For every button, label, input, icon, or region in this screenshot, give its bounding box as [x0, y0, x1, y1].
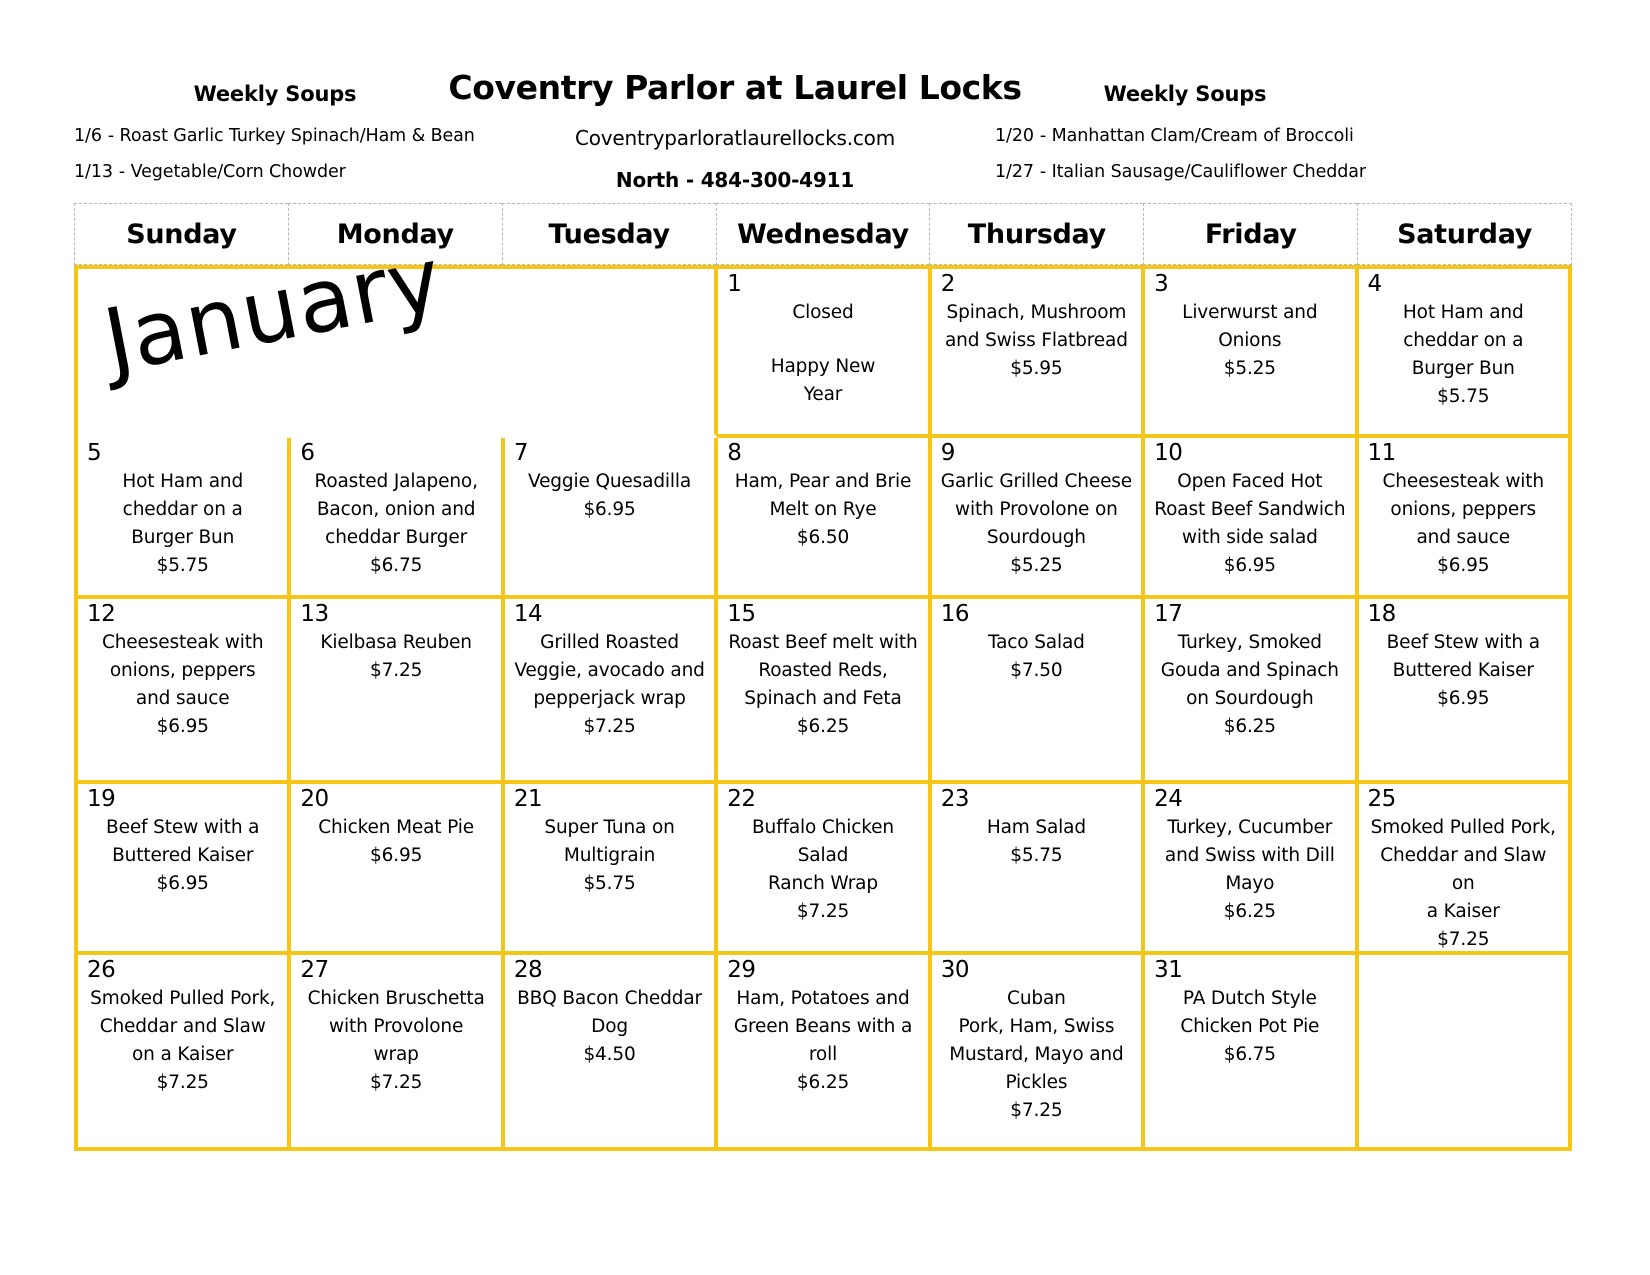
calendar-cell-day-30[interactable]: 30CubanPork, Ham, SwissMustard, Mayo and…	[932, 955, 1145, 1151]
menu-line: onions, peppers	[86, 657, 279, 685]
day-number: 21	[514, 788, 542, 811]
weekly-soups-right: Weekly Soups 1/20- Manhattan Clam/Cream …	[985, 82, 1385, 198]
day-header-friday: Friday	[1143, 203, 1357, 265]
calendar-cell-day-1[interactable]: 1ClosedHappy NewYear	[718, 269, 931, 438]
menu-line: Taco Salad	[940, 629, 1133, 657]
day-number: 13	[300, 603, 328, 626]
soup-text: - Vegetable/Corn Chowder	[119, 162, 346, 182]
calendar-grid: 1ClosedHappy NewYear2Spinach, Mushrooman…	[74, 265, 1572, 1151]
menu-line: Chicken Pot Pie	[1153, 1013, 1346, 1041]
day-header-label: Saturday	[1397, 219, 1532, 250]
menu-line: and sauce	[1367, 524, 1560, 552]
day-header-label: Wednesday	[737, 219, 909, 250]
menu-line: Buffalo Chicken Salad	[726, 814, 919, 870]
menu-item-text: Roasted Jalapeno,Bacon, onion andcheddar…	[295, 468, 496, 580]
calendar-cell-empty	[78, 269, 291, 438]
soup-text: - Italian Sausage/Cauliflower Cheddar	[1040, 162, 1366, 182]
calendar-cell-day-31[interactable]: 31PA Dutch StyleChicken Pot Pie$6.75	[1145, 955, 1358, 1151]
menu-item-text: Smoked Pulled Pork,Cheddar and Slaw ona …	[1363, 814, 1564, 955]
menu-line: Grilled Roasted	[513, 629, 706, 657]
menu-item-text: ClosedHappy NewYear	[722, 299, 923, 409]
day-number: 20	[300, 788, 328, 811]
menu-item-text: Ham, Pear and BrieMelt on Rye$6.50	[722, 468, 923, 552]
menu-line: $6.25	[726, 1069, 919, 1097]
menu-line: onions, peppers	[1367, 496, 1560, 524]
menu-line: Hot Ham and	[1367, 299, 1560, 327]
menu-line: $4.50	[513, 1041, 706, 1069]
menu-item-text: Ham, Potatoes andGreen Beans with aroll$…	[722, 985, 923, 1097]
menu-line: $6.95	[299, 842, 492, 870]
menu-line: Buttered Kaiser	[86, 842, 279, 870]
calendar-cell-day-19[interactable]: 19Beef Stew with aButtered Kaiser$6.95	[78, 784, 291, 955]
menu-line: PA Dutch Style	[1153, 985, 1346, 1013]
menu-line: Closed	[726, 299, 919, 327]
calendar-cell-day-18[interactable]: 18Beef Stew with aButtered Kaiser$6.95	[1359, 599, 1572, 784]
menu-line: Dog	[513, 1013, 706, 1041]
day-number: 15	[727, 603, 755, 626]
calendar-cell-day-27[interactable]: 27Chicken Bruschettawith Provolonewrap$7…	[291, 955, 504, 1151]
day-number: 11	[1368, 442, 1396, 465]
day-number: 19	[87, 788, 115, 811]
day-number: 4	[1368, 273, 1382, 296]
soup-text: - Manhattan Clam/Cream of Broccoli	[1040, 126, 1354, 146]
calendar-cell-day-13[interactable]: 13Kielbasa Reuben$7.25	[291, 599, 504, 784]
menu-line: Burger Bun	[86, 524, 279, 552]
menu-line: $5.75	[513, 870, 706, 898]
calendar-cell-day-20[interactable]: 20Chicken Meat Pie$6.95	[291, 784, 504, 955]
menu-item-text: Beef Stew with aButtered Kaiser$6.95	[82, 814, 283, 898]
menu-item-text: CubanPork, Ham, SwissMustard, Mayo andPi…	[936, 985, 1137, 1126]
calendar-cell-day-15[interactable]: 15Roast Beef melt withRoasted Reds,Spina…	[718, 599, 931, 784]
soup-text: - Roast Garlic Turkey Spinach/Ham & Bean	[108, 126, 475, 146]
menu-line: and sauce	[86, 685, 279, 713]
day-number: 7	[514, 442, 528, 465]
day-number: 9	[941, 442, 955, 465]
menu-line: Buttered Kaiser	[1367, 657, 1560, 685]
calendar-page: Weekly Soups 1/6- Roast Garlic Turkey Sp…	[0, 0, 1650, 1275]
title-block: Coventry Parlor at Laurel Locks Coventry…	[425, 70, 1045, 192]
menu-item-text: Kielbasa Reuben$7.25	[295, 629, 496, 685]
calendar-cell-day-4[interactable]: 4Hot Ham andcheddar on aBurger Bun$5.75	[1359, 269, 1572, 438]
day-number: 1	[727, 273, 741, 296]
day-number: 8	[727, 442, 741, 465]
menu-item-text: Hot Ham andcheddar on aBurger Bun$5.75	[82, 468, 283, 580]
calendar-cell-day-14[interactable]: 14Grilled RoastedVeggie, avocado andpepp…	[505, 599, 718, 784]
menu-line: Pork, Ham, Swiss	[940, 1013, 1133, 1041]
calendar-cell-day-17[interactable]: 17Turkey, SmokedGouda and Spinachon Sour…	[1145, 599, 1358, 784]
menu-line: Chicken Meat Pie	[299, 814, 492, 842]
menu-line: $5.25	[1153, 355, 1346, 383]
menu-line: Turkey, Smoked	[1153, 629, 1346, 657]
menu-line: $6.95	[1153, 552, 1346, 580]
menu-line: Chicken Bruschetta	[299, 985, 492, 1013]
menu-line: wrap	[299, 1041, 492, 1069]
menu-line: Bacon, onion and	[299, 496, 492, 524]
calendar-week-row: 5Hot Ham andcheddar on aBurger Bun$5.756…	[78, 438, 1572, 599]
menu-line: pepperjack wrap	[513, 685, 706, 713]
day-header-monday: Monday	[288, 203, 502, 265]
menu-line: $5.75	[1367, 383, 1560, 411]
menu-line: a Kaiser	[1367, 898, 1560, 926]
menu-item-text: Cheesesteak withonions, peppersand sauce…	[1363, 468, 1564, 580]
menu-line: $6.95	[86, 713, 279, 741]
menu-line: Open Faced Hot	[1153, 468, 1346, 496]
day-number: 10	[1154, 442, 1182, 465]
menu-line: $6.75	[299, 552, 492, 580]
calendar-cell-day-11[interactable]: 11Cheesesteak withonions, peppersand sau…	[1359, 438, 1572, 599]
calendar-cell-day-9[interactable]: 9Garlic Grilled Cheesewith Provolone onS…	[932, 438, 1145, 599]
menu-line: $7.25	[726, 898, 919, 926]
day-header-label: Sunday	[126, 219, 236, 250]
menu-line: Sourdough	[940, 524, 1133, 552]
calendar-cell-day-5[interactable]: 5Hot Ham andcheddar on aBurger Bun$5.75	[78, 438, 291, 599]
menu-line: Onions	[1153, 327, 1346, 355]
menu-item-text: Beef Stew with aButtered Kaiser$6.95	[1363, 629, 1564, 713]
soup-date: 1/6	[74, 126, 102, 146]
menu-item-text: Super Tuna onMultigrain$5.75	[509, 814, 710, 898]
menu-line: $6.25	[726, 713, 919, 741]
calendar-cell-day-12[interactable]: 12Cheesesteak withonions, peppersand sau…	[78, 599, 291, 784]
day-number: 3	[1154, 273, 1168, 296]
calendar-cell-day-10[interactable]: 10Open Faced HotRoast Beef Sandwichwith …	[1145, 438, 1358, 599]
day-header-label: Monday	[337, 219, 454, 250]
day-number: 23	[941, 788, 969, 811]
menu-line: with Provolone	[299, 1013, 492, 1041]
menu-line: Roast Beef Sandwich	[1153, 496, 1346, 524]
soup-line-1-20: 1/20- Manhattan Clam/Cream of Broccoli	[985, 126, 1385, 146]
menu-line: and Swiss with Dill	[1153, 842, 1346, 870]
day-number: 26	[87, 959, 115, 982]
menu-item-text: Hot Ham andcheddar on aBurger Bun$5.75	[1363, 299, 1564, 411]
menu-line: Hot Ham and	[86, 468, 279, 496]
menu-item-text: Chicken Meat Pie$6.95	[295, 814, 496, 870]
menu-line: Cheddar and Slaw	[86, 1013, 279, 1041]
menu-line: $6.95	[86, 870, 279, 898]
menu-line: Mustard, Mayo and	[940, 1041, 1133, 1069]
phone-text: North - 484-300-4911	[425, 168, 1045, 192]
day-number: 27	[300, 959, 328, 982]
menu-line: Pickles	[940, 1069, 1133, 1097]
menu-line: Green Beans with a	[726, 1013, 919, 1041]
menu-item-text: Ham Salad$5.75	[936, 814, 1137, 870]
menu-item-text: Turkey, Cucumberand Swiss with DillMayo$…	[1149, 814, 1350, 926]
day-number: 17	[1154, 603, 1182, 626]
menu-line: BBQ Bacon Cheddar	[513, 985, 706, 1013]
menu-line: Smoked Pulled Pork,	[1367, 814, 1560, 842]
menu-line: $6.95	[1367, 685, 1560, 713]
menu-item-text: BBQ Bacon CheddarDog$4.50	[509, 985, 710, 1069]
menu-line: Ham Salad	[940, 814, 1133, 842]
calendar-week-row: 12Cheesesteak withonions, peppersand sau…	[78, 599, 1572, 784]
soup-date: 1/27	[995, 162, 1034, 182]
day-number: 28	[514, 959, 542, 982]
soup-date: 1/13	[74, 162, 113, 182]
menu-item-text: PA Dutch StyleChicken Pot Pie$6.75	[1149, 985, 1350, 1069]
soup-date: 1/20	[995, 126, 1034, 146]
menu-item-text: Chicken Bruschettawith Provolonewrap$7.2…	[295, 985, 496, 1097]
menu-line: cheddar Burger	[299, 524, 492, 552]
day-number: 24	[1154, 788, 1182, 811]
menu-line: $7.25	[86, 1069, 279, 1097]
calendar-cell-empty	[505, 269, 718, 438]
menu-line: Cheddar and Slaw on	[1367, 842, 1560, 898]
menu-line: $6.50	[726, 524, 919, 552]
calendar-cell-day-23[interactable]: 23Ham Salad$5.75	[932, 784, 1145, 955]
menu-line: Cuban	[940, 985, 1133, 1013]
website-text: Coventryparloratlaurellocks.com	[425, 126, 1045, 150]
menu-item-text: Taco Salad$7.50	[936, 629, 1137, 685]
menu-line: Ham, Pear and Brie	[726, 468, 919, 496]
menu-line: $7.25	[1367, 926, 1560, 954]
calendar-cell-day-24[interactable]: 24Turkey, Cucumberand Swiss with DillMay…	[1145, 784, 1358, 955]
calendar-cell-day-16[interactable]: 16Taco Salad$7.50	[932, 599, 1145, 784]
menu-item-text: Garlic Grilled Cheesewith Provolone onSo…	[936, 468, 1137, 580]
menu-line: on Sourdough	[1153, 685, 1346, 713]
menu-item-text: Cheesesteak withonions, peppersand sauce…	[82, 629, 283, 741]
menu-line: $7.25	[299, 657, 492, 685]
day-number: 18	[1368, 603, 1396, 626]
menu-line: Melt on Rye	[726, 496, 919, 524]
menu-item-text: Spinach, Mushroomand Swiss Flatbread$5.9…	[936, 299, 1137, 383]
page-title: Coventry Parlor at Laurel Locks	[425, 70, 1045, 106]
menu-line: $5.95	[940, 355, 1133, 383]
calendar-cell-day-21[interactable]: 21Super Tuna onMultigrain$5.75	[505, 784, 718, 955]
menu-line: and Swiss Flatbread	[940, 327, 1133, 355]
calendar-week-row: 1ClosedHappy NewYear2Spinach, Mushrooman…	[78, 269, 1572, 438]
calendar-cell-day-3[interactable]: 3Liverwurst andOnions$5.25	[1145, 269, 1358, 438]
menu-line: Cheesesteak with	[1367, 468, 1560, 496]
menu-line: with side salad	[1153, 524, 1346, 552]
menu-line: $7.25	[299, 1069, 492, 1097]
day-header-tuesday: Tuesday	[502, 203, 716, 265]
menu-item-text: Roast Beef melt withRoasted Reds,Spinach…	[722, 629, 923, 741]
calendar-cell-day-29[interactable]: 29Ham, Potatoes andGreen Beans with arol…	[718, 955, 931, 1151]
day-number: 16	[941, 603, 969, 626]
day-number: 6	[300, 442, 314, 465]
day-header-label: Friday	[1205, 219, 1297, 250]
menu-item-text: Veggie Quesadilla$6.95	[509, 468, 710, 524]
menu-line: $6.25	[1153, 898, 1346, 926]
menu-item-text: Liverwurst andOnions$5.25	[1149, 299, 1350, 383]
menu-line: $6.95	[513, 496, 706, 524]
menu-line: roll	[726, 1041, 919, 1069]
menu-line: cheddar on a	[86, 496, 279, 524]
calendar-cell-day-25[interactable]: 25Smoked Pulled Pork,Cheddar and Slaw on…	[1359, 784, 1572, 955]
menu-line: Multigrain	[513, 842, 706, 870]
menu-line: Beef Stew with a	[86, 814, 279, 842]
calendar-cell-day-2[interactable]: 2Spinach, Mushroomand Swiss Flatbread$5.…	[932, 269, 1145, 438]
menu-item-text: Grilled RoastedVeggie, avocado andpepper…	[509, 629, 710, 741]
menu-line: Year	[726, 381, 919, 409]
day-number: 12	[87, 603, 115, 626]
day-header-sunday: Sunday	[74, 203, 288, 265]
menu-line: Burger Bun	[1367, 355, 1560, 383]
menu-line: Super Tuna on	[513, 814, 706, 842]
menu-line: Garlic Grilled Cheese	[940, 468, 1133, 496]
menu-line: Roasted Reds,	[726, 657, 919, 685]
menu-line: cheddar on a	[1367, 327, 1560, 355]
day-number: 14	[514, 603, 542, 626]
day-header-label: Thursday	[968, 219, 1106, 250]
day-header-label: Tuesday	[549, 219, 670, 250]
menu-line: Mayo	[1153, 870, 1346, 898]
menu-line: Happy New	[726, 353, 919, 381]
day-number: 22	[727, 788, 755, 811]
menu-line: Cheesesteak with	[86, 629, 279, 657]
calendar-cell-day-22[interactable]: 22Buffalo Chicken SaladRanch Wrap$7.25	[718, 784, 931, 955]
weekly-soups-right-title: Weekly Soups	[985, 82, 1385, 106]
menu-line: $5.25	[940, 552, 1133, 580]
calendar-cell-day-28[interactable]: 28BBQ Bacon CheddarDog$4.50	[505, 955, 718, 1151]
day-number: 2	[941, 273, 955, 296]
calendar-cell-day-6[interactable]: 6Roasted Jalapeno,Bacon, onion andchedda…	[291, 438, 504, 599]
day-header-saturday: Saturday	[1357, 203, 1572, 265]
day-header-thursday: Thursday	[929, 203, 1143, 265]
day-number: 30	[941, 959, 969, 982]
menu-line: on a Kaiser	[86, 1041, 279, 1069]
page-header: Weekly Soups 1/6- Roast Garlic Turkey Sp…	[0, 0, 1650, 205]
menu-line: $5.75	[940, 842, 1133, 870]
calendar-cell-day-26[interactable]: 26Smoked Pulled Pork,Cheddar and Slawon …	[78, 955, 291, 1151]
menu-line: Spinach, Mushroom	[940, 299, 1133, 327]
menu-line: Beef Stew with a	[1367, 629, 1560, 657]
soup-line-1-27: 1/27- Italian Sausage/Cauliflower Chedda…	[985, 162, 1385, 182]
menu-line: Veggie Quesadilla	[513, 468, 706, 496]
day-header-wednesday: Wednesday	[716, 203, 930, 265]
menu-line: $7.50	[940, 657, 1133, 685]
menu-item-text: Buffalo Chicken SaladRanch Wrap$7.25	[722, 814, 923, 926]
menu-line: $7.25	[940, 1097, 1133, 1125]
menu-line: Veggie, avocado and	[513, 657, 706, 685]
menu-line: $6.95	[1367, 552, 1560, 580]
menu-line: Kielbasa Reuben	[299, 629, 492, 657]
menu-line: $5.75	[86, 552, 279, 580]
menu-line: with Provolone on	[940, 496, 1133, 524]
day-number: 25	[1368, 788, 1396, 811]
calendar-cell-day-7[interactable]: 7Veggie Quesadilla$6.95	[505, 438, 718, 599]
calendar-cell-empty	[291, 269, 504, 438]
menu-item-text: Smoked Pulled Pork,Cheddar and Slawon a …	[82, 985, 283, 1097]
day-number: 29	[727, 959, 755, 982]
menu-line: Roasted Jalapeno,	[299, 468, 492, 496]
menu-line: Spinach and Feta	[726, 685, 919, 713]
day-number: 31	[1154, 959, 1182, 982]
menu-item-text: Open Faced HotRoast Beef Sandwichwith si…	[1149, 468, 1350, 580]
menu-line: Gouda and Spinach	[1153, 657, 1346, 685]
menu-line: Liverwurst and	[1153, 299, 1346, 327]
day-name-header-row: Sunday Monday Tuesday Wednesday Thursday…	[74, 203, 1572, 265]
menu-line: Roast Beef melt with	[726, 629, 919, 657]
menu-item-text: Turkey, SmokedGouda and Spinachon Sourdo…	[1149, 629, 1350, 741]
calendar-cell-day-8[interactable]: 8Ham, Pear and BrieMelt on Rye$6.50	[718, 438, 931, 599]
menu-line: $7.25	[513, 713, 706, 741]
menu-line-spacer	[726, 327, 919, 353]
menu-line: Ham, Potatoes and	[726, 985, 919, 1013]
menu-line: $6.25	[1153, 713, 1346, 741]
menu-line: Ranch Wrap	[726, 870, 919, 898]
calendar-week-row: 26Smoked Pulled Pork,Cheddar and Slawon …	[78, 955, 1572, 1151]
day-number: 5	[87, 442, 101, 465]
menu-line: Turkey, Cucumber	[1153, 814, 1346, 842]
menu-line: $6.75	[1153, 1041, 1346, 1069]
calendar-week-row: 19Beef Stew with aButtered Kaiser$6.9520…	[78, 784, 1572, 955]
menu-line: Smoked Pulled Pork,	[86, 985, 279, 1013]
calendar-cell-empty	[1359, 955, 1572, 1151]
